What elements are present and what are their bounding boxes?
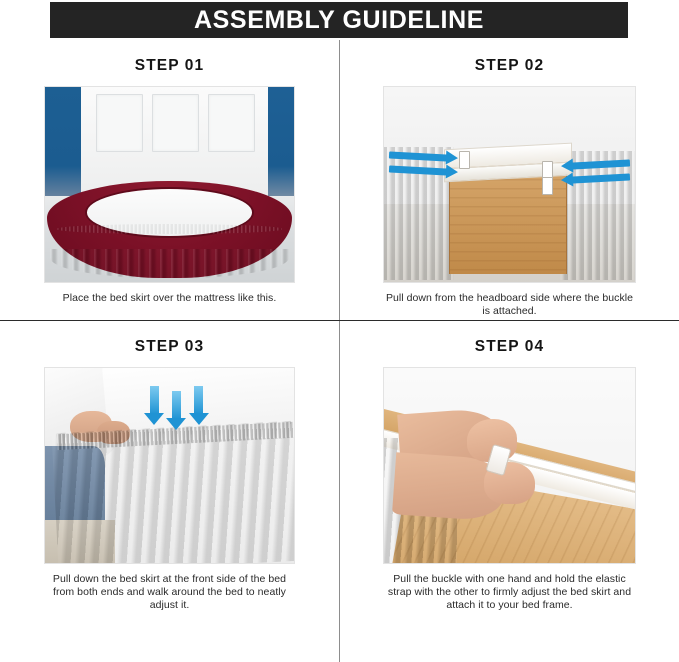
step-caption-02: Pull down from the headboard side where … [385,292,635,318]
steps-grid: STEP 01 Place the bed skirt over the mat… [0,40,679,662]
burgundy-bed-skirt [47,181,291,279]
step-image-04 [383,367,636,564]
white-buckle [459,151,470,169]
step-panel-01: STEP 01 Place the bed skirt over the mat… [0,40,339,320]
headboard-panel [96,94,143,152]
step-title-04: STEP 04 [475,338,544,356]
step-caption-04: Pull the buckle with one hand and hold t… [385,573,635,612]
step-title-02: STEP 02 [475,57,544,75]
blue-arrow-down-icon [172,391,181,419]
step-title-03: STEP 03 [135,338,204,356]
step-image-03 [44,367,295,564]
step-panel-03: STEP 03 Pull down the bed skirt at the f… [0,321,339,662]
step-panel-02: STEP 02 Pull down from the headboard sid… [340,40,679,320]
step-image-02 [383,86,636,283]
white-buckle [542,177,553,195]
step-caption-01: Place the bed skirt over the mattress li… [45,292,295,305]
headboard-panel [152,94,199,152]
blue-arrow-down-icon [150,386,159,414]
step-panel-04: STEP 04 Pull the buckle with one hand an… [340,321,679,662]
header-bar: ASSEMBLY GUIDELINE [50,2,628,38]
headboard-panel [208,94,255,152]
step-image-01 [44,86,295,283]
skirt-gather-seam [57,224,281,234]
step-caption-03: Pull down the bed skirt at the front sid… [45,573,295,612]
step-title-01: STEP 01 [135,57,204,75]
page-title: ASSEMBLY GUIDELINE [194,6,484,35]
blue-arrow-down-icon [194,386,203,414]
